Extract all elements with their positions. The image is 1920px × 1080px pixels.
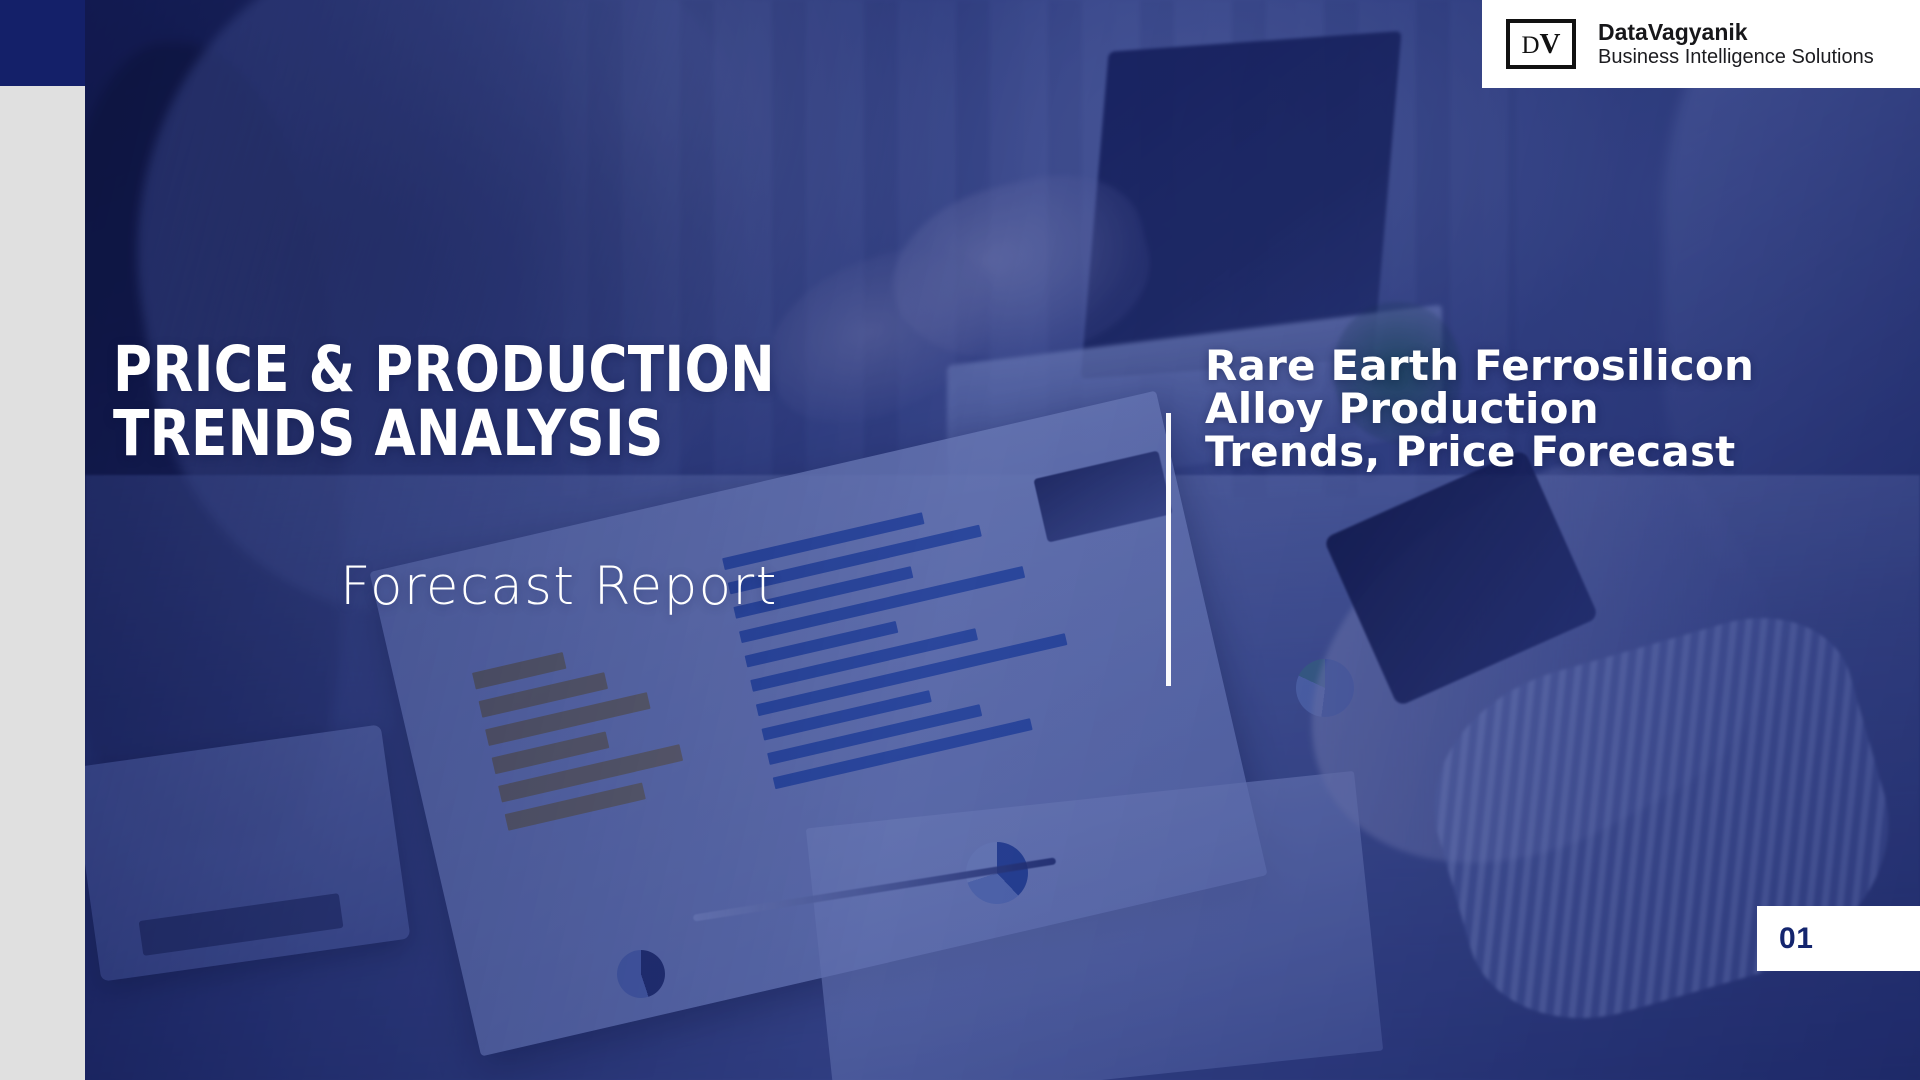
brand-text-block: DataVagyanik Business Intelligence Solut… (1598, 19, 1874, 69)
page-number-badge: 01 (1757, 906, 1920, 971)
page-title: PRICE & PRODUCTION TRENDS ANALYSIS (113, 338, 1006, 465)
report-topic: Rare Earth Ferrosilicon Alloy Production… (1205, 345, 1905, 473)
headline-block: PRICE & PRODUCTION TRENDS ANALYSIS (113, 338, 1063, 465)
corner-accent-block (0, 0, 85, 86)
left-gray-rail (0, 86, 85, 1080)
datavagyanik-logo-icon: DV (1506, 19, 1576, 69)
title-slide: PRICE & PRODUCTION TRENDS ANALYSIS Forec… (0, 0, 1920, 1080)
logo-letter-v: V (1540, 28, 1561, 60)
brand-panel: DV DataVagyanik Business Intelligence So… (1482, 0, 1920, 88)
brand-name: DataVagyanik (1598, 19, 1874, 45)
vertical-divider (1166, 413, 1171, 686)
brand-tagline: Business Intelligence Solutions (1598, 45, 1874, 69)
background-photo (85, 0, 1920, 1080)
page-number: 01 (1757, 922, 1814, 956)
subtitle: Forecast Report (340, 560, 1060, 613)
photo-blue-tint (85, 0, 1920, 1080)
logo-letter-d: D (1521, 32, 1539, 59)
